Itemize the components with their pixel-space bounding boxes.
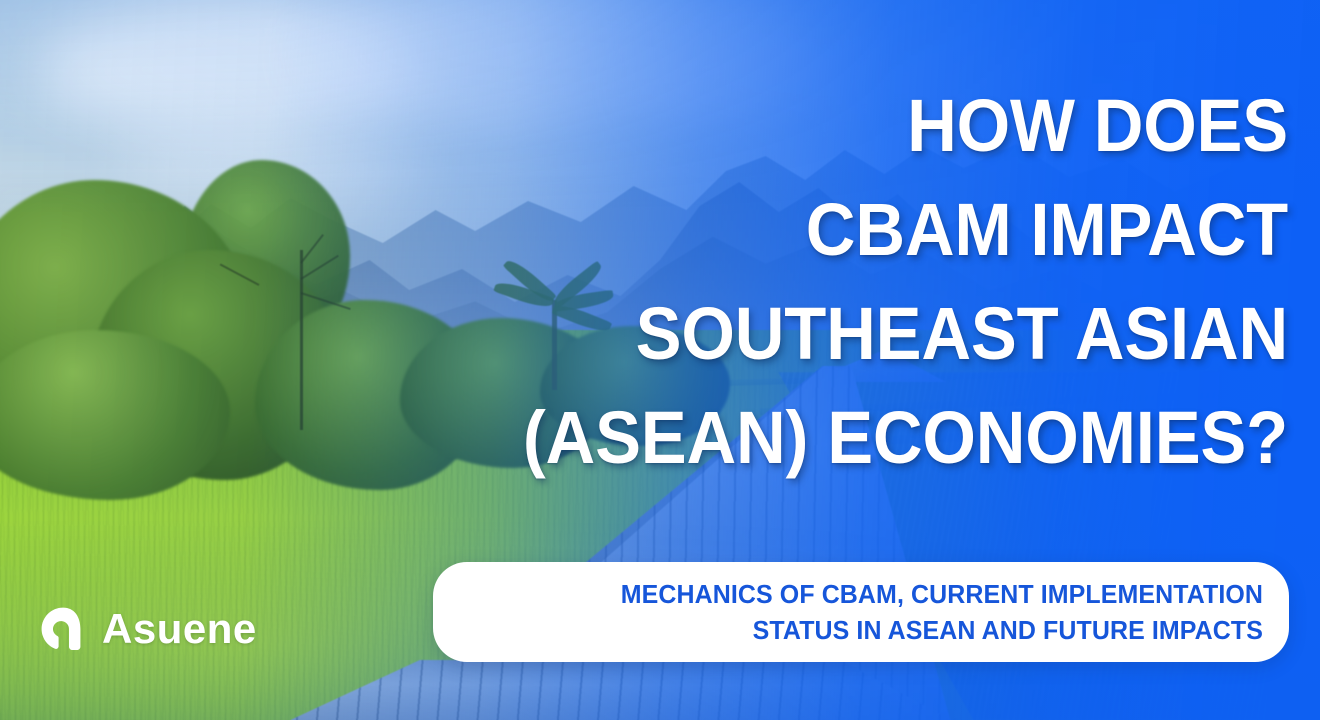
subtitle-line-2: STATUS IN ASEAN AND FUTURE IMPACTS: [487, 612, 1263, 648]
headline-line-2: CBAM IMPACT: [470, 178, 1288, 282]
brand-name: Asuene: [102, 608, 257, 650]
asuene-a-mark-icon: [38, 604, 88, 654]
brand-logo[interactable]: Asuene: [38, 604, 257, 654]
headline: HOW DOES CBAM IMPACT SOUTHEAST ASIAN (AS…: [470, 74, 1288, 490]
headline-line-3: SOUTHEAST ASIAN: [470, 282, 1288, 386]
subtitle-line-1: MECHANICS OF CBAM, CURRENT IMPLEMENTATIO…: [487, 576, 1263, 612]
subtitle-card: MECHANICS OF CBAM, CURRENT IMPLEMENTATIO…: [433, 562, 1289, 662]
headline-line-4: (ASEAN) ECONOMIES?: [470, 386, 1288, 490]
hero-banner: HOW DOES CBAM IMPACT SOUTHEAST ASIAN (AS…: [0, 0, 1320, 720]
headline-line-1: HOW DOES: [470, 74, 1288, 178]
